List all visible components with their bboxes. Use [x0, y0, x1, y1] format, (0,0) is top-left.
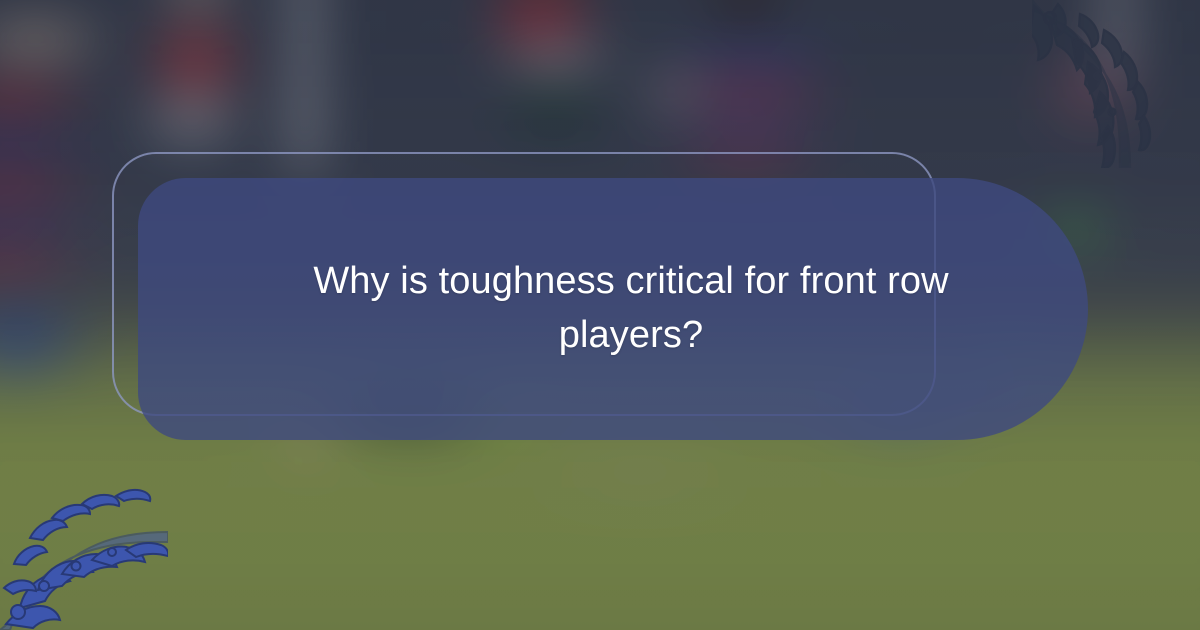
damask-corner-ornament-top-right — [1032, 0, 1200, 168]
question-card: Why is toughness critical for front row … — [138, 178, 1088, 440]
social-card-canvas: Why is toughness critical for front row … — [0, 0, 1200, 630]
damask-corner-ornament-bottom-left — [0, 462, 168, 630]
question-title: Why is toughness critical for front row … — [281, 255, 981, 363]
question-card-group: Why is toughness critical for front row … — [112, 152, 1088, 440]
